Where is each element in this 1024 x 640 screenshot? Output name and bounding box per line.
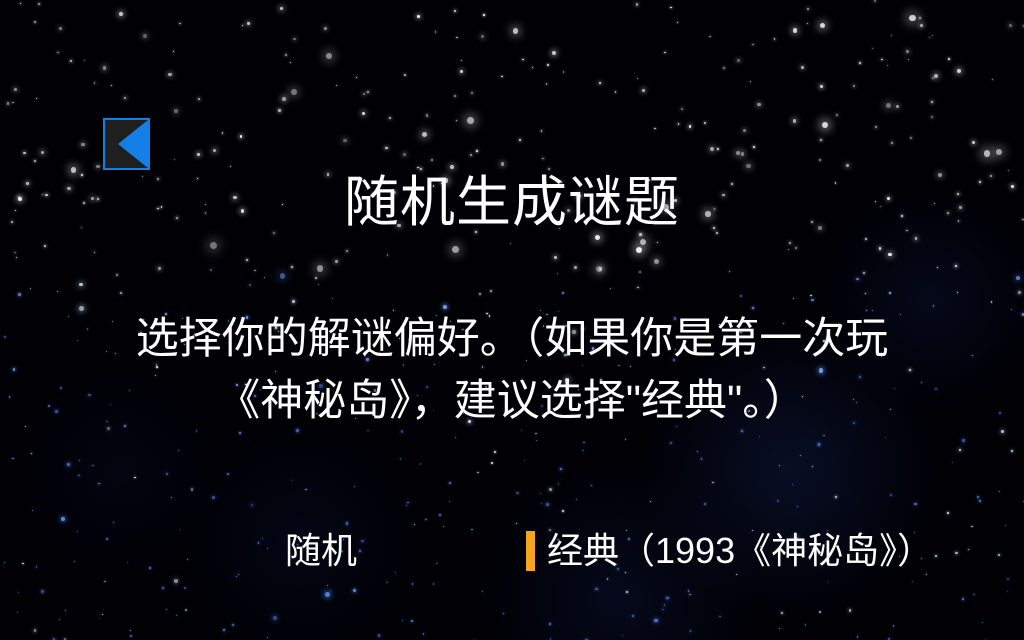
page-title: 随机生成谜题 (0, 172, 1024, 232)
back-button[interactable] (103, 118, 150, 170)
back-triangle-icon (118, 120, 148, 168)
game-screen: 随机生成谜题 选择你的解谜偏好。（如果你是第一次玩 《神秘岛》，建议选择"经典"… (0, 0, 1024, 640)
option-classic-label: 经典（1993《神秘岛》） (547, 528, 933, 574)
option-classic[interactable]: 经典（1993《神秘岛》） (526, 528, 933, 574)
option-random-label: 随机 (285, 528, 357, 574)
description-line-1: 选择你的解谜偏好。（如果你是第一次玩 (0, 308, 1024, 370)
options-row: 随机 经典（1993《神秘岛》） (0, 528, 1024, 578)
option-random[interactable]: 随机 (285, 528, 357, 574)
selection-marker (526, 531, 535, 571)
page-description: 选择你的解谜偏好。（如果你是第一次玩 《神秘岛》，建议选择"经典"。） (0, 308, 1024, 432)
description-line-2: 《神秘岛》，建议选择"经典"。） (0, 370, 1024, 432)
